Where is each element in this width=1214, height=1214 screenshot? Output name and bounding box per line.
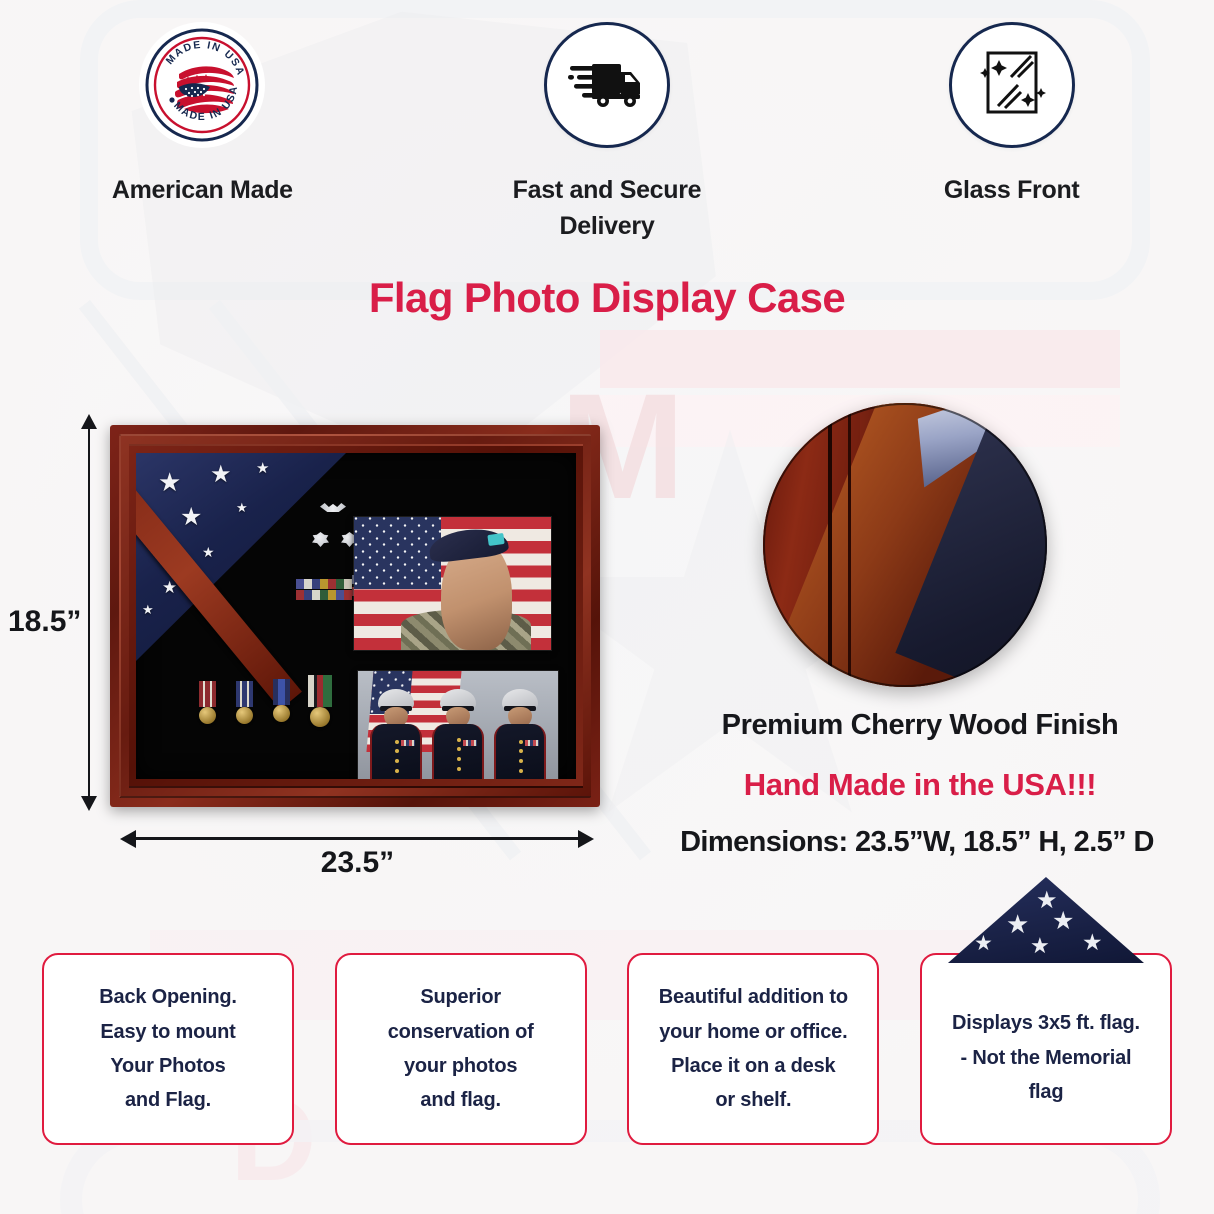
- infographic-page: M D: [0, 0, 1214, 1214]
- height-arrow-down-icon: [81, 796, 97, 811]
- oak-leaf-insignia-left: [312, 532, 329, 547]
- wood-finish-label: Premium Cherry Wood Finish: [640, 709, 1200, 742]
- feature-box-home-office: Beautiful addition to your home or offic…: [627, 953, 879, 1145]
- height-dimension-label: 18.5”: [8, 605, 81, 639]
- height-dimension-line: [88, 425, 90, 807]
- dimensions-label: Dimensions: 23.5”W, 18.5” H, 2.5” D: [620, 826, 1214, 859]
- case-photo-marines: [358, 671, 558, 779]
- handmade-usa-label: Hand Made in the USA!!!: [640, 767, 1200, 803]
- eagle-insignia-icon: [320, 503, 346, 512]
- feature-glass-front: Glass Front: [847, 22, 1177, 208]
- feature-box-flag-size: ★ ★ ★ ★ ★ ★ Displays 3x5 ft. flag. - Not…: [920, 953, 1172, 1145]
- feature-box-text: Beautiful addition to your home or offic…: [659, 980, 848, 1118]
- made-in-usa-badge-icon: MADE IN USA MADE IN USA: [139, 22, 265, 148]
- width-dimension-label: 23.5”: [0, 846, 715, 880]
- cherry-wood-detail-image: [763, 403, 1047, 687]
- case-photo-soldier: [354, 517, 551, 650]
- feature-box-text: Superior conservation of your photos and…: [388, 980, 534, 1118]
- delivery-truck-icon: [544, 22, 670, 148]
- medal-3: [273, 679, 290, 722]
- top-feature-row: MADE IN USA MADE IN USA American Made: [0, 22, 1214, 245]
- product-display-case-image: ★ ★ ★ ★ ★ ★ ★ ★ ★: [110, 425, 600, 807]
- glass-panel-sparkle-icon: [949, 22, 1075, 148]
- feature-box-back-opening: Back Opening. Easy to mount Your Photos …: [42, 953, 294, 1145]
- case-interior: ★ ★ ★ ★ ★ ★ ★ ★ ★: [136, 453, 576, 779]
- page-title: Flag Photo Display Case: [0, 274, 1214, 322]
- medal-1: [199, 681, 216, 724]
- folded-flag-icon: ★ ★ ★ ★ ★ ★: [948, 877, 1144, 963]
- feature-box-text: Displays 3x5 ft. flag. - Not the Memoria…: [952, 1006, 1140, 1109]
- feature-american-made: MADE IN USA MADE IN USA American Made: [37, 22, 367, 208]
- feature-label-glass-front: Glass Front: [944, 172, 1080, 208]
- feature-box-text: Back Opening. Easy to mount Your Photos …: [99, 980, 236, 1118]
- feature-box-conservation: Superior conservation of your photos and…: [335, 953, 587, 1145]
- feature-fast-delivery: Fast and Secure Delivery: [442, 22, 772, 245]
- medal-4: [308, 675, 332, 727]
- feature-label-fast-delivery: Fast and Secure Delivery: [513, 172, 702, 245]
- width-dimension-line: [132, 837, 582, 840]
- feature-label-american-made: American Made: [112, 172, 293, 208]
- medal-2: [236, 681, 253, 724]
- feature-box-row: Back Opening. Easy to mount Your Photos …: [42, 953, 1172, 1145]
